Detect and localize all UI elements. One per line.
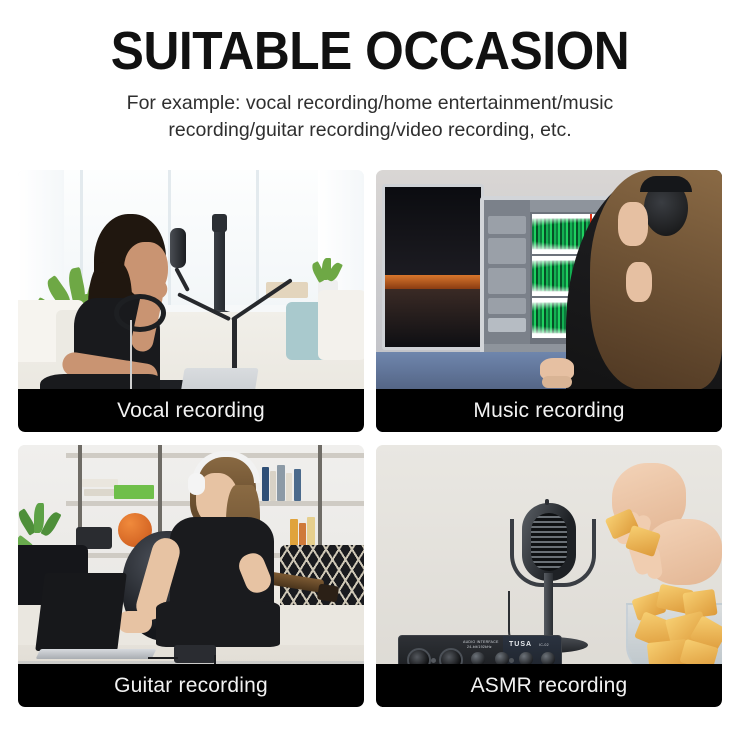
- interface-title-line-1: AUDIO INTERFACE: [463, 640, 499, 644]
- brand-logo: TUSA: [509, 641, 532, 648]
- model-label: IC-02: [539, 643, 549, 647]
- secondary-monitor: [382, 184, 484, 350]
- caption-text: ASMR recording: [471, 674, 628, 698]
- subtitle-line-1: For example: vocal recording/home entert…: [70, 90, 670, 117]
- page-title: SUITABLE OCCASION: [30, 22, 711, 80]
- card-vocal-recording[interactable]: Vocal recording Woman with headphones ar…: [18, 170, 364, 432]
- caption-text: Music recording: [473, 399, 624, 423]
- interface-title-line-2: 24-bit/192kHz: [467, 645, 492, 649]
- card-asmr-recording[interactable]: AUDIO INTERFACE 24-bit/192kHz TUSA IC-02…: [376, 445, 722, 707]
- caption-asmr-recording: ASMR recording: [376, 664, 722, 707]
- condenser-microphone: [170, 228, 186, 268]
- caption-text: Vocal recording: [117, 399, 265, 423]
- occasion-grid: Vocal recording Woman with headphones ar…: [18, 170, 722, 707]
- laptop: [35, 573, 127, 651]
- page-header: SUITABLE OCCASION For example: vocal rec…: [0, 0, 740, 144]
- card-music-recording[interactable]: Music recording Woman wearing Sony headp…: [376, 170, 722, 432]
- caption-text: Guitar recording: [114, 674, 268, 698]
- caption-music-recording: Music recording: [376, 389, 722, 432]
- audio-interface: [174, 645, 216, 663]
- subtitle-line-2: recording/guitar recording/video recordi…: [70, 117, 670, 144]
- card-guitar-recording[interactable]: Guitar recording Girl wearing white head…: [18, 445, 364, 707]
- page-subtitle: For example: vocal recording/home entert…: [70, 90, 670, 144]
- caption-guitar-recording: Guitar recording: [18, 664, 364, 707]
- caption-vocal-recording: Vocal recording: [18, 389, 364, 432]
- suitable-occasion-page: SUITABLE OCCASION For example: vocal rec…: [0, 0, 740, 740]
